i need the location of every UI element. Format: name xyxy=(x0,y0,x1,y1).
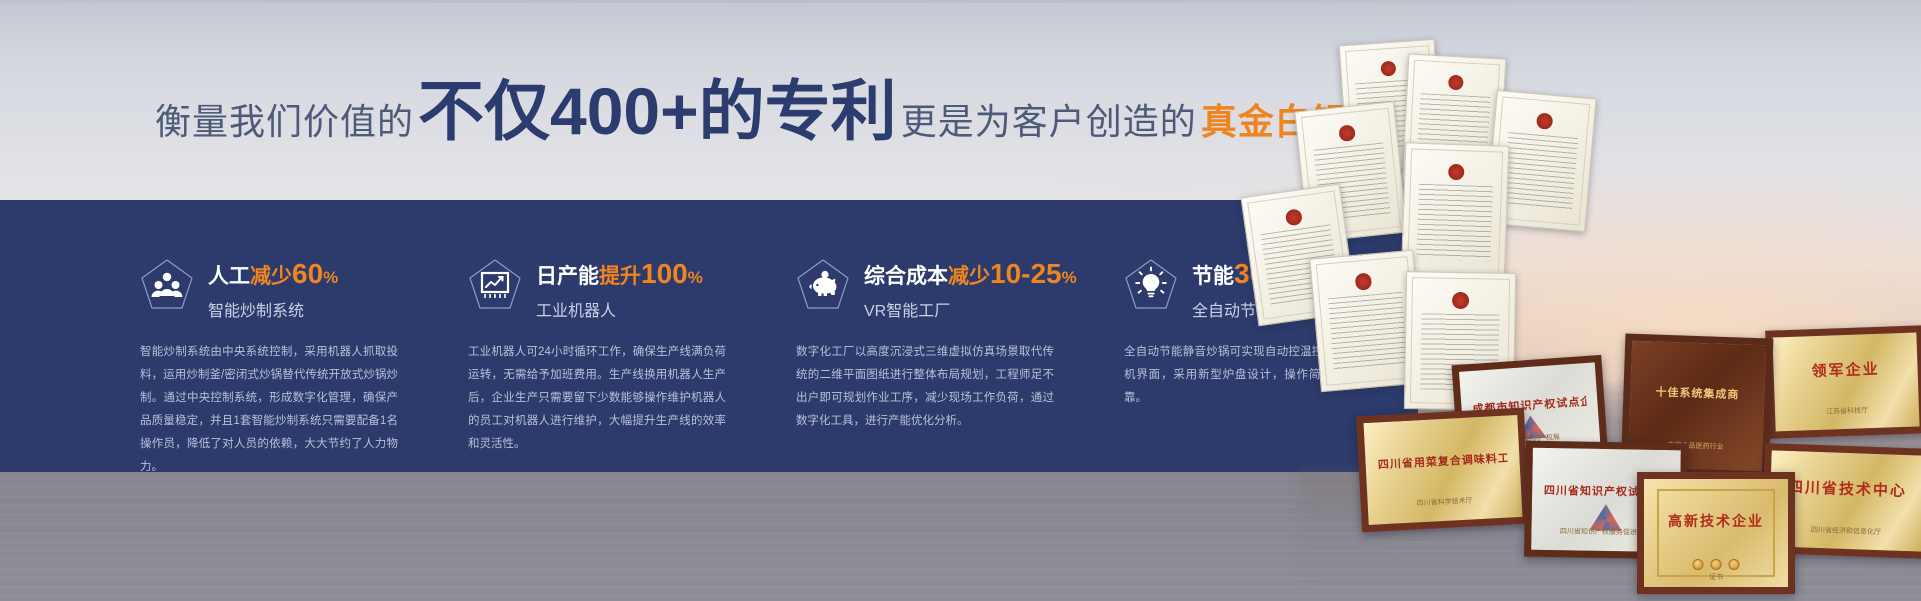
feature-title-prefix: 人工 xyxy=(208,265,250,288)
medal-icon xyxy=(1711,559,1722,570)
plaque-title: 四川省用菜复合调味料工程技术研究中心 xyxy=(1378,450,1508,473)
feature-title: 人工减少60% xyxy=(208,258,338,290)
plaque-subtitle: 四川省经济和信息化厅 xyxy=(1784,523,1907,537)
feature-title-percent: % xyxy=(1062,268,1077,287)
feature-titles: 人工减少60% 智能炒制系统 xyxy=(208,256,338,321)
lightbulb-icon xyxy=(1124,258,1178,312)
features-list: 人工减少60% 智能炒制系统 智能炒制系统由中央系统控制，采用机器人抓取投料，运… xyxy=(0,200,1418,472)
feature-body: 智能炒制系统由中央系统控制，采用机器人抓取投料，运用炒制釜/密闭式炒锅替代传统开… xyxy=(140,341,398,479)
feature-titles: 综合成本减少10-25% VR智能工厂 xyxy=(864,256,1077,321)
feature-title-number: 10-25 xyxy=(990,258,1062,289)
feature-title-accent: 减少 xyxy=(250,265,292,288)
plaque-title: 领军企业 xyxy=(1773,357,1918,383)
feature-title: 综合成本减少10-25% xyxy=(864,258,1077,290)
feature-title-number: 100 xyxy=(641,258,688,289)
feature-subtitle: VR智能工厂 xyxy=(864,297,1077,321)
promo-banner: 衡量我们价值的 不仅400+的专利 更是为客户创造的 真金白银的效益 xyxy=(0,0,1921,601)
feature-header: 人工减少60% 智能炒制系统 xyxy=(140,256,430,321)
medal-row xyxy=(1693,559,1740,570)
feature-body: 数字化工厂以高度沉浸式三维虚拟仿真场景取代传统的二维平面图纸进行整体布局规划，工… xyxy=(796,341,1054,433)
feature-title-prefix: 综合成本 xyxy=(864,265,948,288)
feature-body: 工业机器人可24小时循环工作，确保生产线满负荷运转，无需给予加班费用。生产线换用… xyxy=(468,341,726,456)
certificate-stack: 成都市知识产权试点企业 成都市知识产权局 十佳系统集成商 中国食品医药行业 领军… xyxy=(1255,40,1921,560)
top-divider xyxy=(0,0,1921,3)
feature-title-percent: % xyxy=(323,268,338,287)
plaque-subtitle: 证书 xyxy=(1658,572,1773,582)
plaque-subtitle: 四川省科学技术厅 xyxy=(1383,493,1507,509)
feature-subtitle: 工业机器人 xyxy=(536,297,703,321)
feature-header: 综合成本减少10-25% VR智能工厂 xyxy=(796,256,1086,321)
feature-title-percent: % xyxy=(688,268,703,287)
plaque-leading: 领军企业 江苏省科技厅 xyxy=(1765,325,1921,438)
feature-titles: 日产能提升100% 工业机器人 xyxy=(536,256,703,321)
feature-title-accent: 减少 xyxy=(948,265,990,288)
plaque-subtitle: 江苏省科技厅 xyxy=(1789,404,1904,418)
feature-header: 日产能提升100% 工业机器人 xyxy=(468,256,758,321)
feature-subtitle: 智能炒制系统 xyxy=(208,297,338,321)
feature-title: 日产能提升100% xyxy=(536,258,703,290)
feature-item-cost: 综合成本减少10-25% VR智能工厂 数字化工厂以高度沉浸式三维虚拟仿真场景取… xyxy=(796,230,1086,472)
feature-item-labor: 人工减少60% 智能炒制系统 智能炒制系统由中央系统控制，采用机器人抓取投料，运… xyxy=(140,230,430,472)
feature-title-number: 60 xyxy=(292,258,323,289)
feature-item-capacity: 日产能提升100% 工业机器人 工业机器人可24小时循环工作，确保生产线满负荷运… xyxy=(468,230,758,472)
headline-emphasis: 不仅400+的专利 xyxy=(414,78,901,144)
chart-board-icon xyxy=(468,258,522,312)
certificate-hightech: 高新技术企业 证书 xyxy=(1637,472,1795,594)
feature-title-accent: 提升 xyxy=(599,265,641,288)
features-panel: 人工减少60% 智能炒制系统 智能炒制系统由中央系统控制，采用机器人抓取投料，运… xyxy=(0,200,1418,472)
plaque-sichuan-eng: 四川省用菜复合调味料工程技术研究中心 四川省科学技术厅 xyxy=(1356,408,1530,533)
plaque-title: 十佳系统集成商 xyxy=(1641,384,1754,404)
headline-lead: 衡量我们价值的 xyxy=(155,93,414,145)
feature-title-prefix: 日产能 xyxy=(536,265,599,288)
plaque-title: 高新技术企业 xyxy=(1644,511,1788,531)
headline-middle: 更是为客户创造的 xyxy=(901,93,1197,145)
medal-icon xyxy=(1693,559,1704,570)
certificate-paper-mid xyxy=(1401,142,1510,282)
feature-title-prefix: 节能 xyxy=(1192,265,1234,288)
medal-icon xyxy=(1729,559,1740,570)
people-group-icon xyxy=(140,258,194,312)
piggy-bank-icon xyxy=(796,258,850,312)
